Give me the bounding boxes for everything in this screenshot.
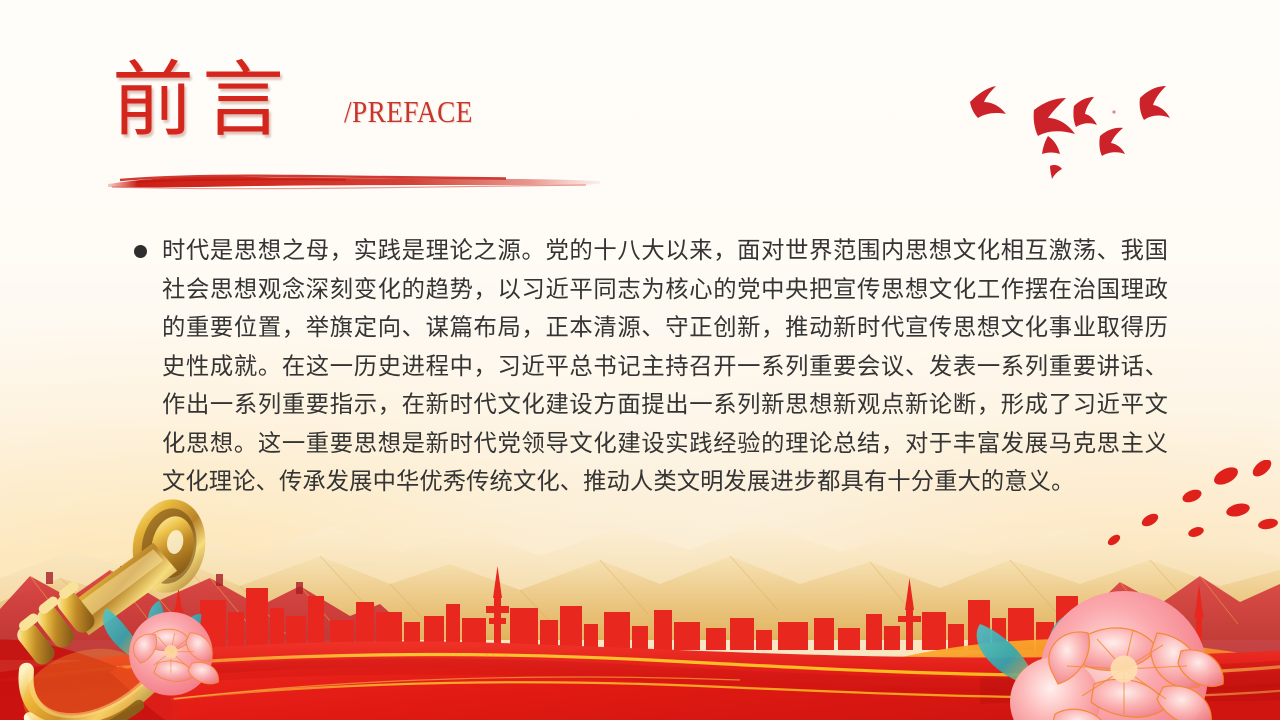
brush-underline bbox=[106, 170, 602, 192]
bird-icon bbox=[1034, 98, 1075, 136]
bullet-point-icon bbox=[134, 245, 147, 258]
page-subtitle: /PREFACE bbox=[344, 94, 473, 130]
page-title: 前言 bbox=[112, 62, 292, 140]
bird-icon bbox=[1112, 110, 1115, 113]
bird-icon bbox=[1042, 136, 1060, 154]
bird-icon bbox=[1140, 86, 1170, 120]
bird-icon bbox=[1073, 97, 1097, 127]
body-paragraph-block: 时代是思想之母，实践是理论之源。党的十八大以来，面对世界范围内思想文化相互激荡、… bbox=[134, 232, 1168, 502]
bird-icon bbox=[1099, 128, 1125, 156]
bird-icon bbox=[1050, 165, 1062, 179]
birds-group bbox=[952, 66, 1182, 186]
preface-body-text: 时代是思想之母，实践是理论之源。党的十八大以来，面对世界范围内思想文化相互激荡、… bbox=[162, 232, 1168, 502]
slide-header: 前言 /PREFACE bbox=[112, 62, 490, 140]
bird-icon bbox=[970, 86, 1006, 118]
preface-slide: 前言 /PREFACE 时代是思想之母，实践是理论之源。党的十八大以 bbox=[0, 0, 1280, 720]
